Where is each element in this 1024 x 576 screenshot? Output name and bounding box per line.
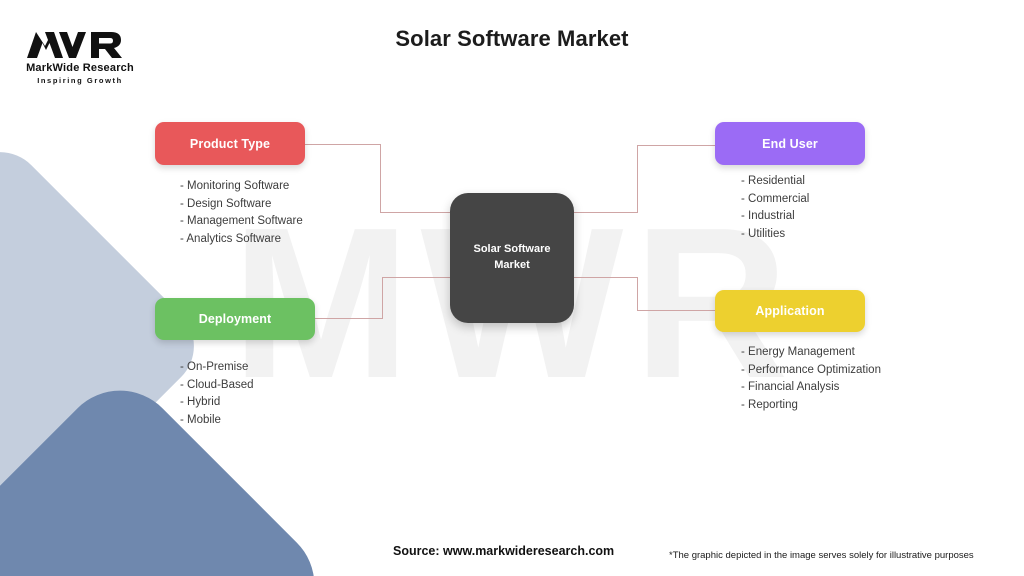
- footer-disclaimer: *The graphic depicted in the image serve…: [669, 550, 974, 561]
- list-item: - Utilities: [741, 226, 809, 244]
- center-node-solar-software-market[interactable]: Solar Software Market: [450, 193, 574, 323]
- connector-application-horizontal-top: [572, 277, 638, 278]
- branch-label-product-type: Product Type: [190, 137, 270, 151]
- branch-label-application: Application: [755, 304, 824, 318]
- connector-product-type-horizontal-bottom: [380, 212, 452, 213]
- list-item: - Analytics Software: [180, 231, 303, 249]
- branch-node-deployment[interactable]: Deployment: [155, 298, 315, 340]
- connector-deployment-horizontal-bottom: [314, 318, 383, 319]
- center-node-label-line2: Market: [494, 259, 529, 271]
- page-title: Solar Software Market: [262, 26, 762, 52]
- infographic-canvas: MWR MarkWide Research Inspiring Growth S…: [0, 0, 1024, 576]
- connector-deployment-vertical: [382, 277, 383, 319]
- logo-company-name: MarkWide Research: [15, 62, 145, 74]
- branch-list-product-type: - Monitoring Software - Design Software …: [180, 178, 303, 248]
- list-item: - Hybrid: [180, 394, 254, 412]
- list-item: - Financial Analysis: [741, 379, 881, 397]
- list-item: - Reporting: [741, 397, 881, 415]
- connector-end-user-vertical: [637, 145, 638, 213]
- logo-tagline: Inspiring Growth: [15, 76, 145, 85]
- branch-list-deployment: - On-Premise - Cloud-Based - Hybrid - Mo…: [180, 359, 254, 429]
- list-item: - Cloud-Based: [180, 377, 254, 395]
- branch-node-end-user[interactable]: End User: [715, 122, 865, 165]
- connector-end-user-horizontal-top: [637, 145, 716, 146]
- branch-list-application: - Energy Management - Performance Optimi…: [741, 344, 881, 414]
- branch-label-end-user: End User: [762, 137, 818, 151]
- list-item: - Industrial: [741, 208, 809, 226]
- list-item: - Monitoring Software: [180, 178, 303, 196]
- list-item: - Mobile: [180, 412, 254, 430]
- branch-node-product-type[interactable]: Product Type: [155, 122, 305, 165]
- branch-label-deployment: Deployment: [199, 312, 272, 326]
- list-item: - Design Software: [180, 196, 303, 214]
- connector-deployment-horizontal-top: [382, 277, 452, 278]
- branch-node-application[interactable]: Application: [715, 290, 865, 332]
- center-node-label-line1: Solar Software: [473, 243, 550, 255]
- mwr-logo-icon: [15, 24, 145, 64]
- footer-source: Source: www.markwideresearch.com: [393, 544, 614, 558]
- list-item: - Performance Optimization: [741, 362, 881, 380]
- connector-product-type-vertical: [380, 144, 381, 213]
- list-item: - Energy Management: [741, 344, 881, 362]
- center-node-label: Solar Software Market: [473, 242, 550, 274]
- connector-application-horizontal-bottom: [637, 310, 716, 311]
- decorative-shape-dark: [0, 366, 339, 576]
- connector-end-user-horizontal-bottom: [572, 212, 638, 213]
- list-item: - Management Software: [180, 213, 303, 231]
- list-item: - Residential: [741, 173, 809, 191]
- brand-logo: MarkWide Research Inspiring Growth: [15, 24, 145, 86]
- list-item: - On-Premise: [180, 359, 254, 377]
- list-item: - Commercial: [741, 191, 809, 209]
- branch-list-end-user: - Residential - Commercial - Industrial …: [741, 173, 809, 243]
- connector-product-type-horizontal-top: [305, 144, 381, 145]
- connector-application-vertical: [637, 277, 638, 311]
